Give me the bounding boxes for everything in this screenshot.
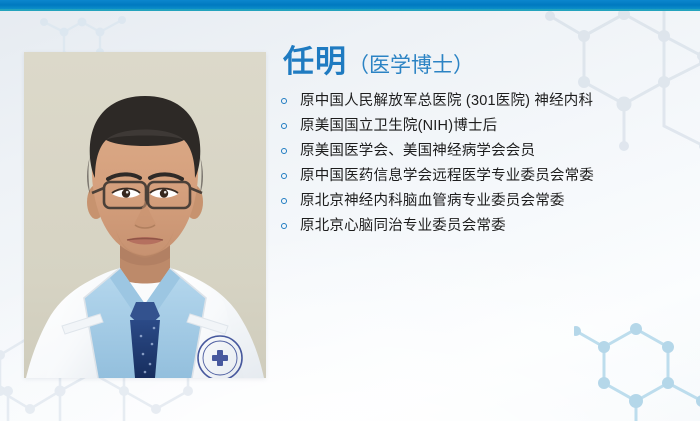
bullet-ring-icon bbox=[281, 98, 287, 104]
list-item: 原北京神经内科脑血管病专业委员会常委 bbox=[281, 191, 681, 211]
top-accent-bar bbox=[0, 0, 700, 9]
doctor-info-panel: 任明（医学博士） 原中国人民解放军总医院 (301医院) 神经内科 原美国国立卫… bbox=[281, 46, 681, 236]
doctor-qualification: （医学博士） bbox=[348, 54, 474, 77]
hexagon-molecule-accent-icon bbox=[574, 301, 700, 421]
credential-text: 原北京心脑同治专业委员会常委 bbox=[300, 218, 506, 234]
doctor-name-heading: 任明（医学博士） bbox=[283, 46, 681, 77]
credentials-list: 原中国人民解放军总医院 (301医院) 神经内科 原美国国立卫生院(NIH)博士… bbox=[281, 91, 681, 236]
doctor-profile-slide: 任明（医学博士） 原中国人民解放军总医院 (301医院) 神经内科 原美国国立卫… bbox=[0, 0, 700, 421]
bullet-ring-icon bbox=[281, 198, 287, 204]
credential-text: 原中国医药信息学会远程医学专业委员会常委 bbox=[300, 168, 594, 184]
list-item: 原中国人民解放军总医院 (301医院) 神经内科 bbox=[281, 91, 681, 111]
credential-text: 原美国医学会、美国神经病学会会员 bbox=[300, 143, 535, 159]
doctor-name: 任明 bbox=[283, 44, 347, 79]
credential-text: 原中国人民解放军总医院 (301医院) 神经内科 bbox=[300, 93, 593, 109]
bullet-ring-icon bbox=[281, 173, 287, 179]
credential-text: 原美国国立卫生院(NIH)博士后 bbox=[300, 118, 497, 134]
list-item: 原美国医学会、美国神经病学会会员 bbox=[281, 141, 681, 161]
list-item: 原中国医药信息学会远程医学专业委员会常委 bbox=[281, 166, 681, 186]
bullet-ring-icon bbox=[281, 148, 287, 154]
list-item: 原北京心脑同治专业委员会常委 bbox=[281, 216, 681, 236]
list-item: 原美国国立卫生院(NIH)博士后 bbox=[281, 116, 681, 136]
doctor-portrait-photo bbox=[24, 52, 266, 378]
portrait-illustration bbox=[24, 52, 266, 378]
credential-text: 原北京神经内科脑血管病专业委员会常委 bbox=[300, 193, 565, 209]
top-accent-line bbox=[0, 9, 700, 11]
bullet-ring-icon bbox=[281, 123, 287, 129]
bullet-ring-icon bbox=[281, 223, 287, 229]
